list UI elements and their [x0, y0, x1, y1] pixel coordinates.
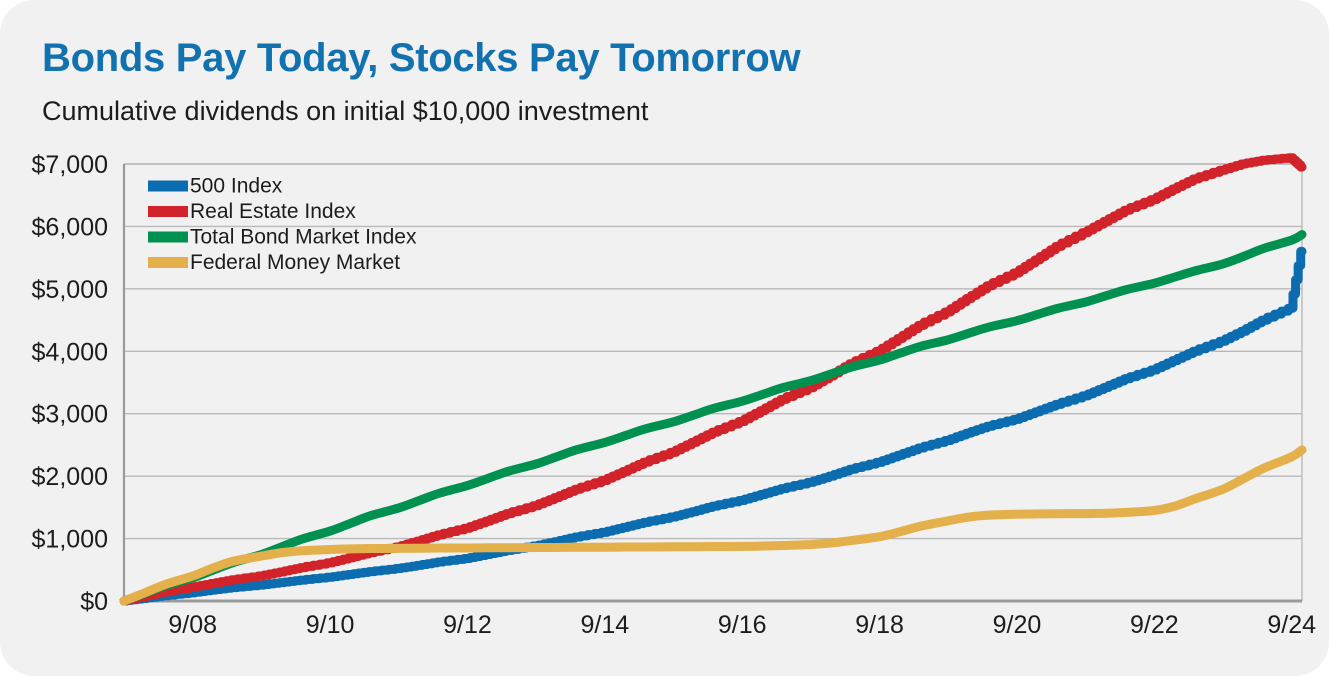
line-chart-svg: $0$1,000$2,000$3,000$4,000$5,000$6,000$7… — [0, 0, 1329, 676]
data-series-layer — [124, 158, 1302, 601]
legend-swatch — [148, 181, 188, 192]
x-tick-label: 9/24 — [1267, 611, 1316, 639]
y-tick-label: $5,000 — [32, 276, 108, 304]
x-tick-label: 9/12 — [443, 611, 492, 639]
legend-label: Federal Money Market — [190, 251, 400, 274]
legend-label: Real Estate Index — [190, 200, 356, 223]
chart-card: Bonds Pay Today, Stocks Pay Tomorrow Cum… — [0, 0, 1329, 676]
legend-label: Total Bond Market Index — [190, 226, 417, 249]
x-axis-ticks: 9/089/109/129/149/169/189/209/229/24 — [168, 611, 1316, 639]
y-tick-label: $2,000 — [32, 463, 108, 491]
chart-legend: 500 IndexReal Estate IndexTotal Bond Mar… — [148, 175, 417, 275]
x-tick-label: 9/18 — [855, 611, 904, 639]
y-tick-label: $3,000 — [32, 401, 108, 429]
legend-swatch — [148, 232, 188, 243]
y-axis-ticks: $0$1,000$2,000$3,000$4,000$5,000$6,000$7… — [32, 151, 108, 616]
x-tick-label: 9/14 — [580, 611, 629, 639]
y-tick-label: $4,000 — [32, 338, 108, 366]
y-tick-label: $0 — [80, 588, 108, 616]
legend-label: 500 Index — [190, 175, 283, 198]
x-tick-label: 9/08 — [168, 611, 217, 639]
x-tick-label: 9/20 — [993, 611, 1042, 639]
x-tick-label: 9/22 — [1130, 611, 1179, 639]
y-tick-label: $7,000 — [32, 151, 108, 179]
y-tick-label: $1,000 — [32, 526, 108, 554]
y-tick-label: $6,000 — [32, 213, 108, 241]
legend-swatch — [148, 206, 188, 217]
x-tick-label: 9/16 — [718, 611, 767, 639]
x-tick-label: 9/10 — [306, 611, 355, 639]
legend-swatch — [148, 257, 188, 268]
chart-plot-area: $0$1,000$2,000$3,000$4,000$5,000$6,000$7… — [0, 0, 1329, 676]
